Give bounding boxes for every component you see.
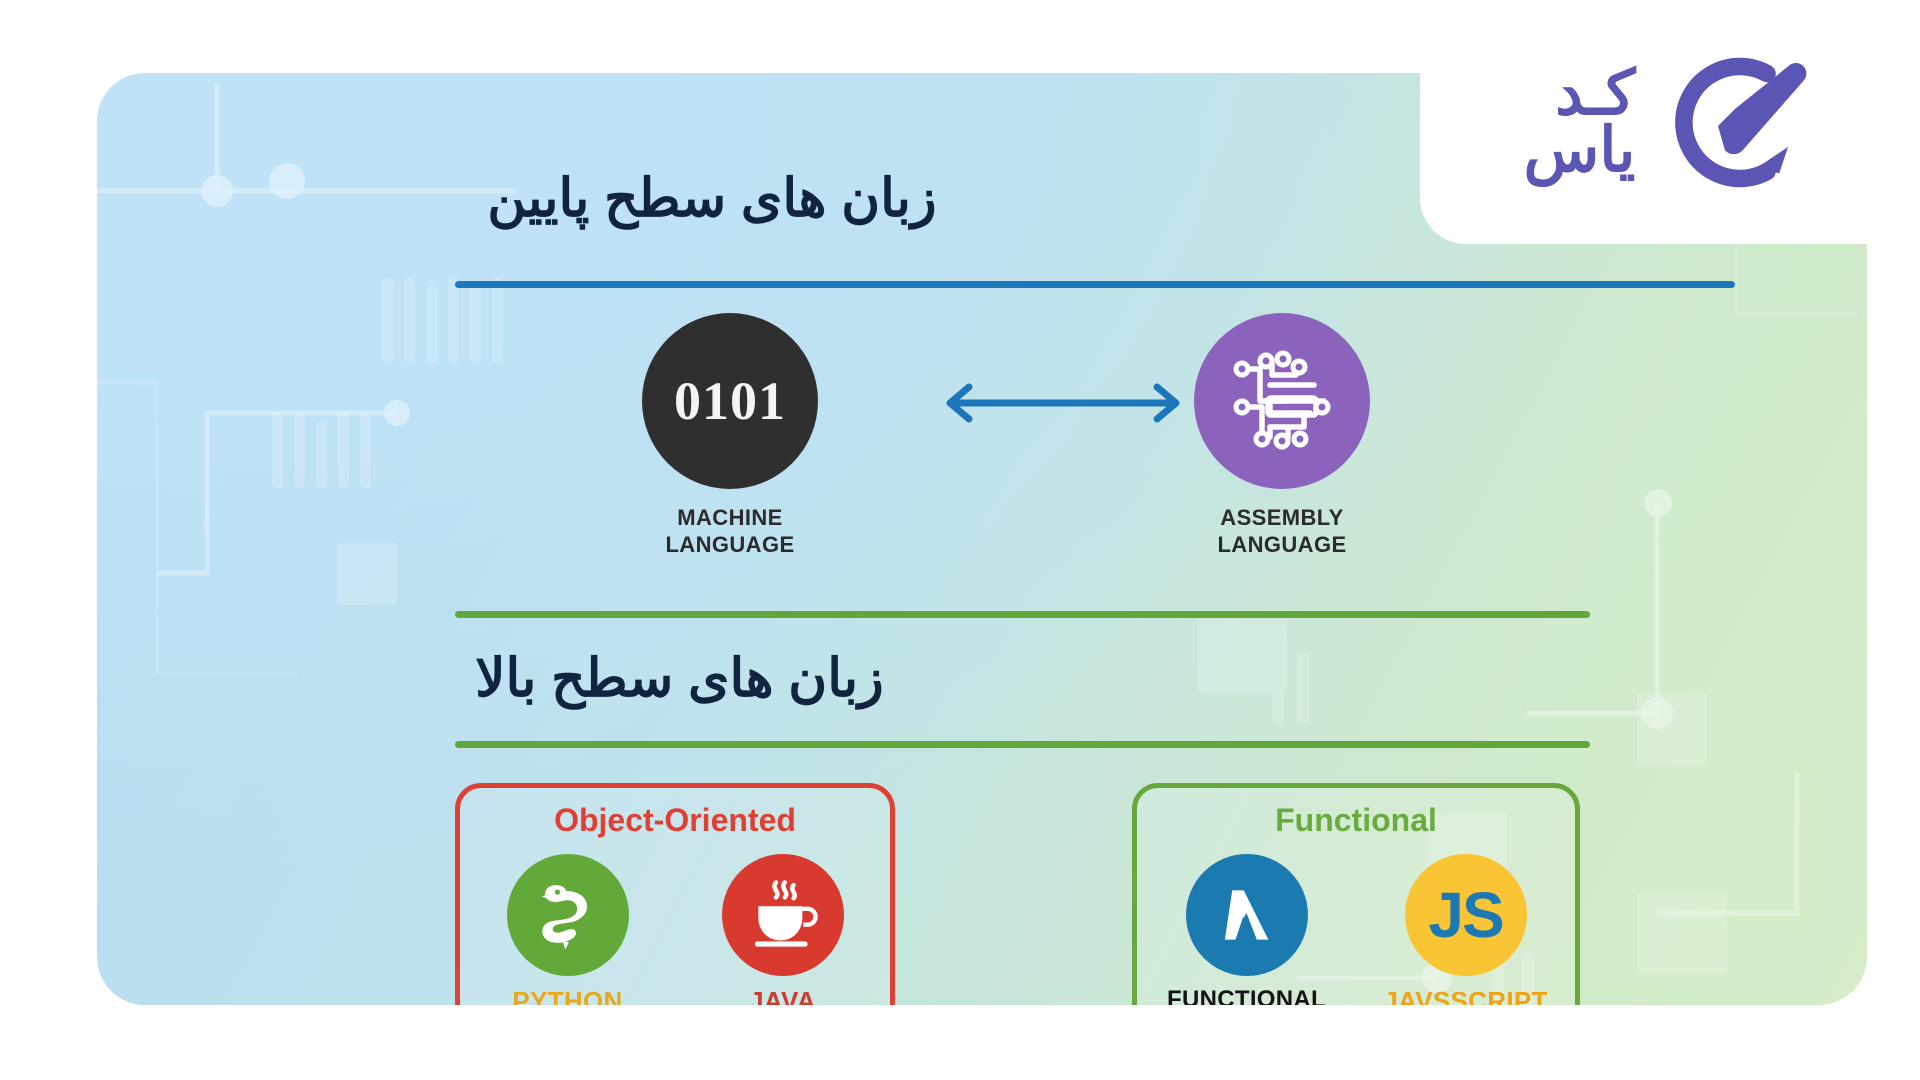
object-oriented-items: PYTHON (460, 854, 890, 1005)
divider-low-level (455, 281, 1735, 288)
divider-high-level-top (455, 611, 1590, 618)
machine-language-label: MACHINE LANGUAGE (600, 505, 860, 559)
js-logo-text: JS (1428, 878, 1502, 952)
functional-group[interactable]: Functional FUNCTIONAL EXAMPLE (1132, 783, 1580, 1005)
python-label: PYTHON (483, 986, 653, 1005)
java-item[interactable]: JAVA (698, 854, 868, 1005)
section-title-low-level: زبان های سطح پایین (97, 168, 1327, 229)
assembly-language-label: ASSEMBLY LANGUAGE (1152, 505, 1412, 559)
brand-logo-inner: کـد یاس (1524, 35, 1817, 210)
infographic-canvas: زبان های سطح پایین 0101 MACHINE LANGUAGE (0, 0, 1920, 1080)
section-title-high-level: زبان های سطح بالا (97, 648, 1262, 709)
brand-word-bottom: یاس (1524, 122, 1636, 179)
brand-logo-wordmark: کـد یاس (1524, 65, 1636, 179)
brand-word-top: کـد (1555, 65, 1635, 122)
python-item[interactable]: PYTHON (483, 854, 653, 1005)
machine-language-item[interactable]: 0101 MACHINE LANGUAGE (600, 313, 860, 559)
functional-title: Functional (1137, 802, 1575, 839)
lambda-icon (1186, 854, 1308, 976)
javascript-label: JAVSSCRIPT (1381, 986, 1551, 1005)
functional-example-item[interactable]: FUNCTIONAL EXAMPLE (1162, 854, 1332, 1005)
machine-label-line1: MACHINE (677, 505, 782, 530)
functional-items: FUNCTIONAL EXAMPLE JS JAVSSCRIPT (1137, 854, 1575, 1005)
object-oriented-title: Object-Oriented (460, 802, 890, 839)
javascript-item[interactable]: JS JAVSSCRIPT (1381, 854, 1551, 1005)
brand-logo[interactable]: کـد یاس (1420, 0, 1920, 244)
coffee-cup-icon (722, 854, 844, 976)
java-label: JAVA (698, 986, 868, 1005)
divider-high-level-bottom (455, 741, 1590, 748)
assembly-label-line2: LANGUAGE (1217, 532, 1346, 557)
binary-code-text: 0101 (674, 370, 786, 432)
binary-0101-icon: 0101 (642, 313, 818, 489)
circuit-board-icon (1194, 313, 1370, 489)
python-snake-icon (507, 854, 629, 976)
object-oriented-group[interactable]: Object-Oriented PYTHON (455, 783, 895, 1005)
js-logo-icon: JS (1405, 854, 1527, 976)
assembly-language-item[interactable]: ASSEMBLY LANGUAGE (1152, 313, 1412, 559)
magnifier-check-icon (1641, 35, 1816, 210)
machine-label-line2: LANGUAGE (665, 532, 794, 557)
fn-label-line1: FUNCTIONAL (1167, 986, 1326, 1005)
functional-example-label: FUNCTIONAL EXAMPLE (1162, 986, 1332, 1005)
low-level-languages-row: 0101 MACHINE LANGUAGE (97, 313, 1867, 573)
assembly-label-line1: ASSEMBLY (1220, 505, 1343, 530)
